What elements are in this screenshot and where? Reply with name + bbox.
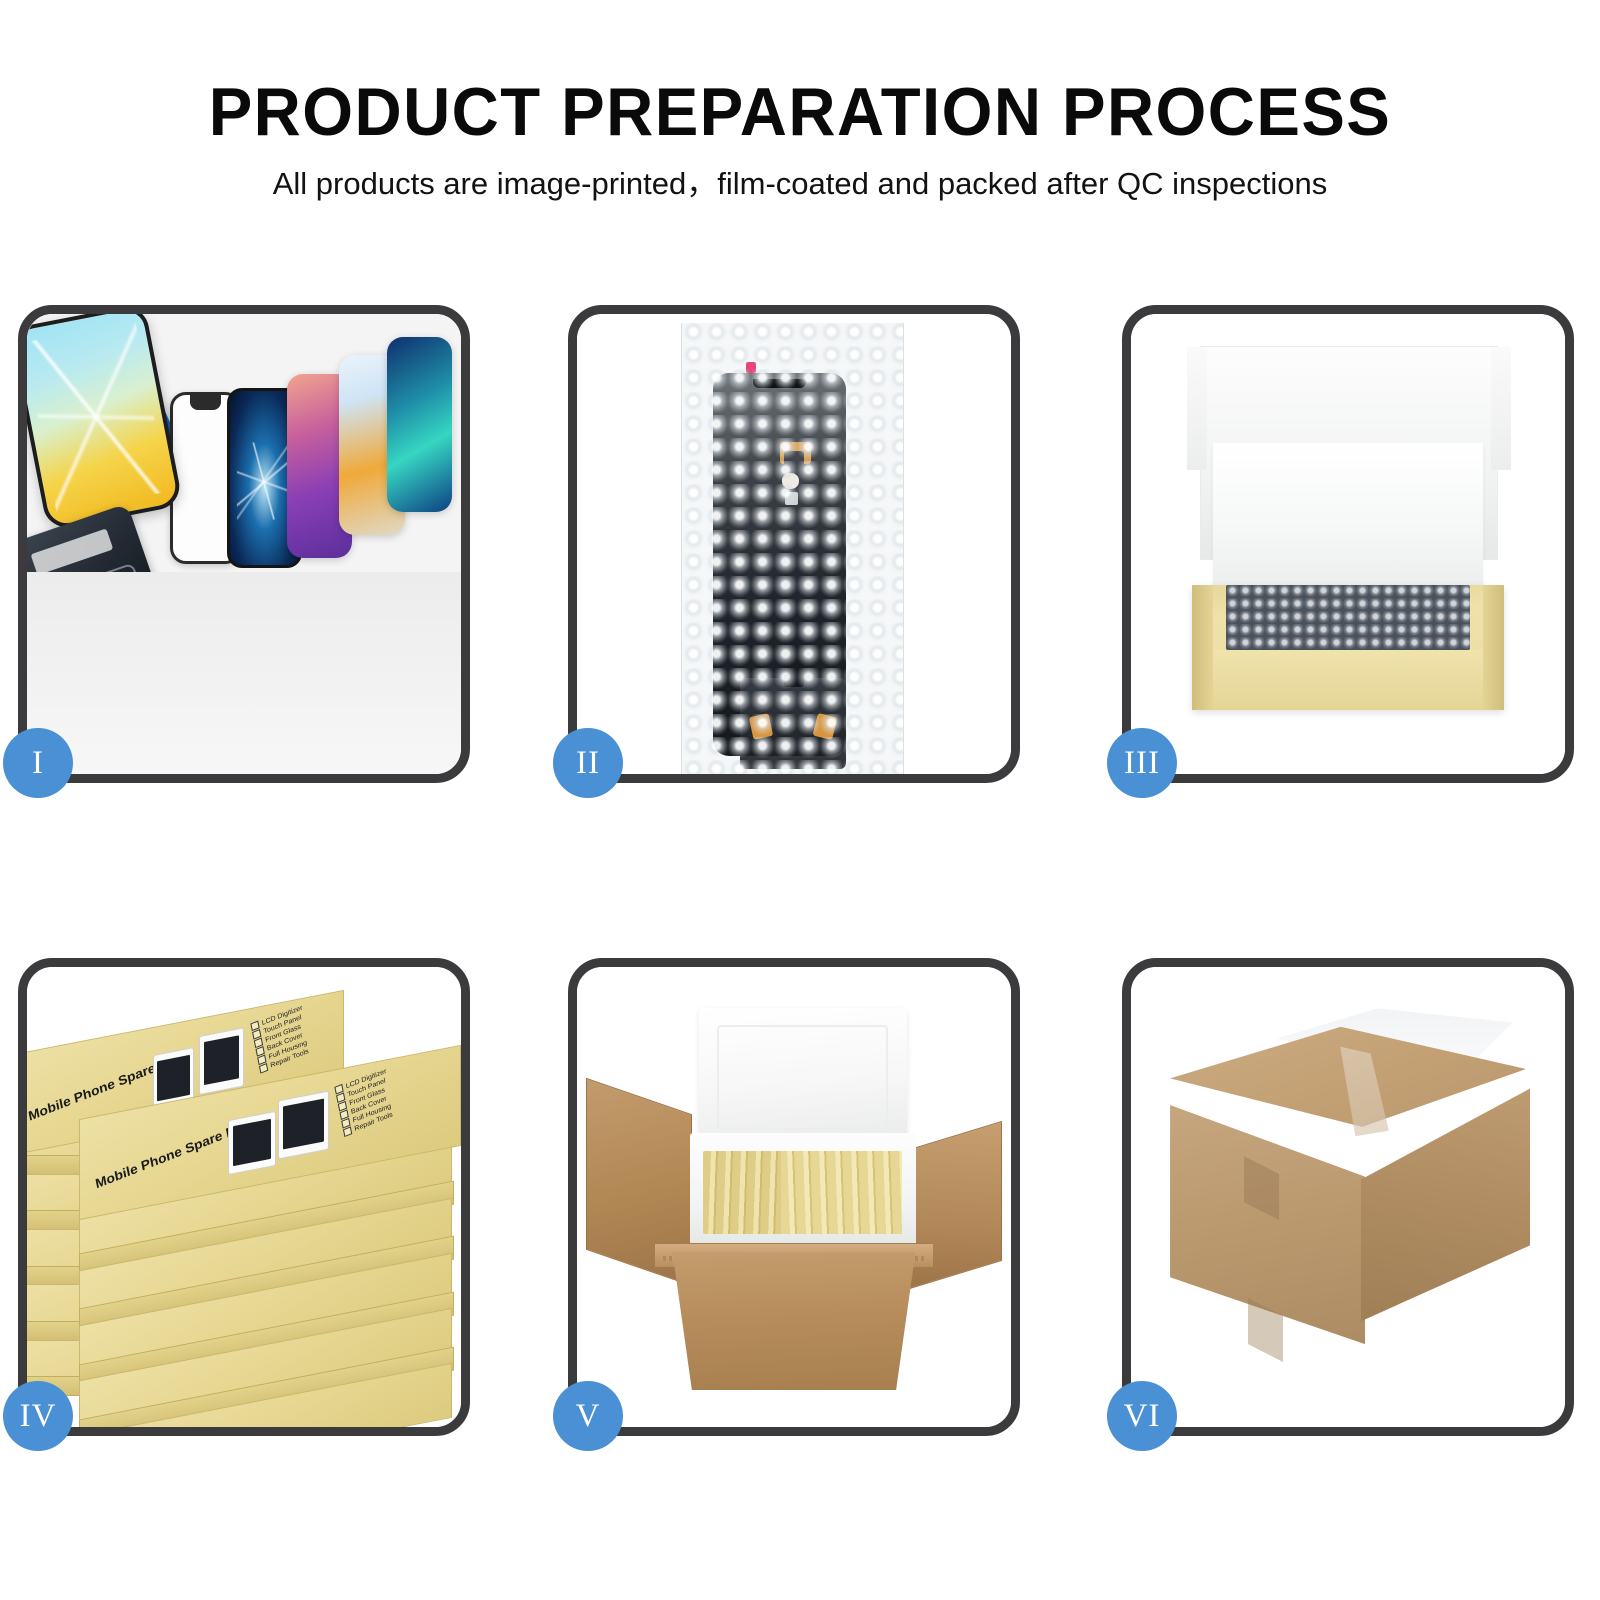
step-badge-3: III bbox=[1107, 728, 1177, 798]
step-badge-4: IV bbox=[3, 1381, 73, 1451]
foam-liner bbox=[1213, 443, 1482, 590]
process-step-panel-4[interactable]: Mobile Phone Spare Parts LCD Digitizer T… bbox=[18, 958, 470, 1436]
step-badge-1: I bbox=[3, 728, 73, 798]
step-badge-5: V bbox=[553, 1381, 623, 1451]
gold-box-front-wall bbox=[1192, 650, 1504, 710]
bubble-texture bbox=[682, 323, 903, 774]
bubble-wrap-bag bbox=[681, 323, 904, 774]
carton-body bbox=[672, 1252, 915, 1390]
step-6-image bbox=[1131, 967, 1565, 1427]
process-step-panel-1[interactable]: I bbox=[18, 305, 470, 783]
screwdriver-part bbox=[388, 703, 429, 739]
gold-boxes-inside-right bbox=[781, 1151, 903, 1234]
step-1-image bbox=[27, 314, 461, 774]
flex-cable-part-a bbox=[238, 578, 275, 602]
process-step-panel-6[interactable]: VI bbox=[1122, 958, 1574, 1436]
sealed-carton-scene bbox=[1131, 967, 1565, 1427]
small-part-3 bbox=[235, 641, 274, 655]
small-part-4 bbox=[253, 654, 283, 668]
retail-box-phone-image-2b bbox=[278, 1091, 330, 1160]
inner-box-scene bbox=[1131, 314, 1565, 774]
green-phone-image bbox=[387, 337, 452, 512]
carton-loading-scene bbox=[577, 967, 1011, 1427]
sim-tray-part bbox=[157, 696, 176, 730]
back-housing-image bbox=[27, 503, 172, 674]
small-part-1 bbox=[149, 645, 179, 661]
step-2-image bbox=[577, 314, 1011, 774]
small-part-2 bbox=[154, 665, 182, 693]
process-step-panel-5[interactable]: V bbox=[568, 958, 1020, 1436]
step-5-image bbox=[577, 967, 1011, 1427]
wireless-coil-part bbox=[188, 576, 225, 613]
gold-box-right-1 bbox=[79, 1399, 452, 1427]
process-step-panel-2[interactable]: II bbox=[568, 305, 1020, 783]
retail-box-phone-image-2a bbox=[228, 1111, 276, 1175]
step-3-image bbox=[1131, 314, 1565, 774]
retail-box-phone-image-1b bbox=[199, 1028, 244, 1095]
gold-box-right-wall bbox=[1483, 585, 1505, 709]
process-step-grid: I II bbox=[0, 0, 1600, 1600]
speaker-strip-part bbox=[136, 604, 184, 616]
flex-cable-part-b bbox=[253, 599, 275, 610]
gold-box-left-wall bbox=[1192, 585, 1214, 709]
step-badge-6: VI bbox=[1107, 1381, 1177, 1451]
ic-chip-part bbox=[188, 627, 231, 673]
repair-tool-part bbox=[375, 593, 461, 707]
broken-phone-image bbox=[27, 314, 184, 531]
small-part-6 bbox=[231, 696, 253, 719]
small-part-9 bbox=[248, 682, 265, 705]
step-4-image: Mobile Phone Spare Parts LCD Digitizer T… bbox=[27, 967, 461, 1427]
small-part-5 bbox=[205, 682, 235, 694]
bubble-wrap-scene bbox=[577, 314, 1011, 774]
small-part-7 bbox=[170, 710, 192, 728]
process-step-panel-3[interactable]: III bbox=[1122, 305, 1574, 783]
checkbox-icon bbox=[343, 1127, 352, 1138]
foam-box-lid bbox=[699, 1008, 907, 1146]
phone-parts-scene bbox=[27, 314, 461, 774]
grey-bubble-wrap bbox=[1226, 585, 1469, 649]
step-badge-2: II bbox=[553, 728, 623, 798]
small-part-8 bbox=[209, 714, 235, 732]
gold-box-stack-scene: Mobile Phone Spare Parts LCD Digitizer T… bbox=[27, 967, 461, 1427]
